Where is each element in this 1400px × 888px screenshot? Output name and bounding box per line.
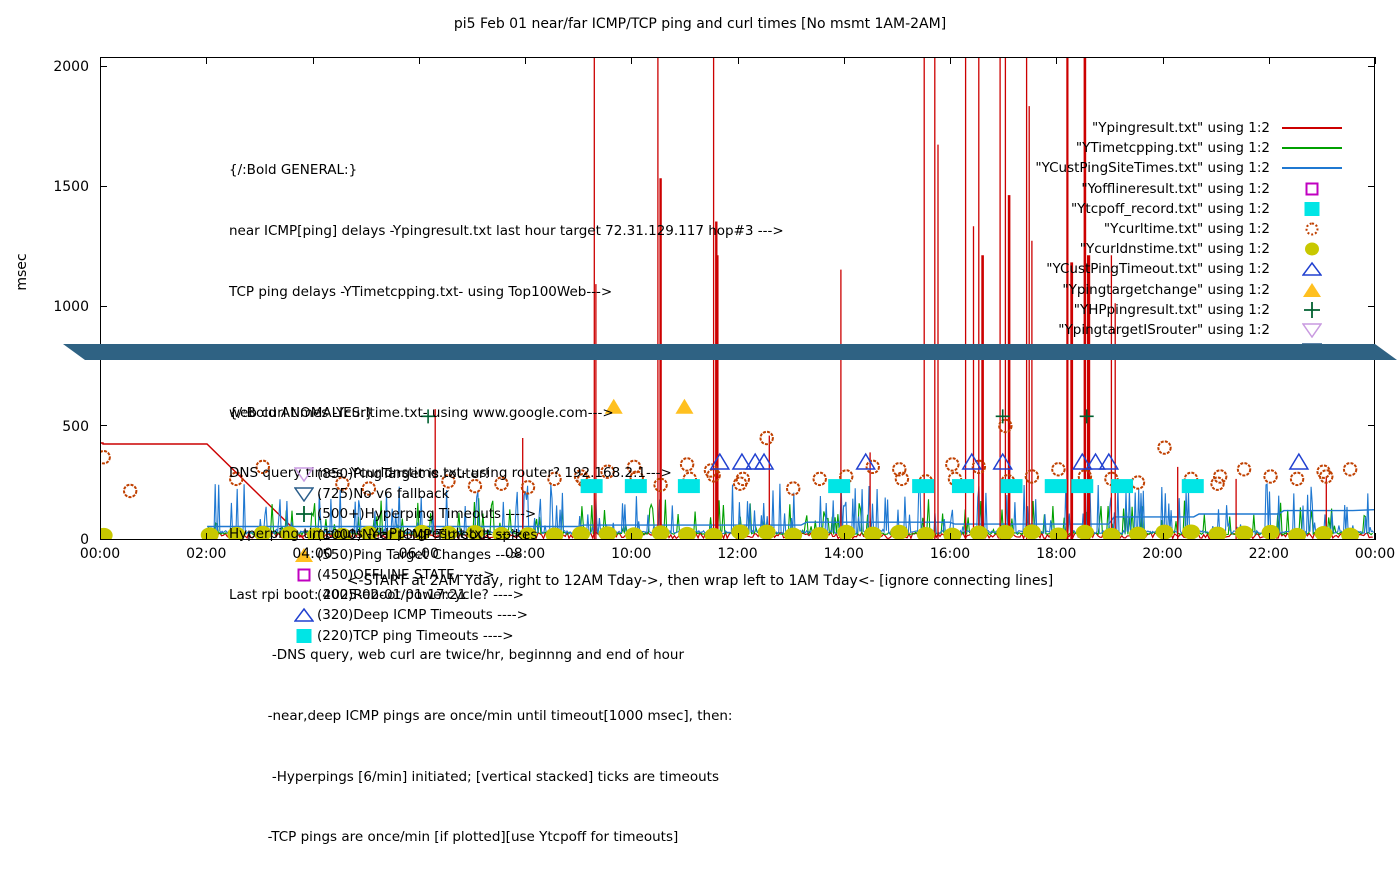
legend-item[interactable]: "Ypingresult.txt" using 1:2 [996,118,1346,138]
curl-time-marker [814,473,826,485]
dns-time-marker [1182,524,1200,539]
selection-band-overlay[interactable] [85,344,1375,360]
tcp-ping-timeout-marker [828,479,850,493]
x-tickmark [1269,57,1270,64]
legend-item[interactable]: "YCustPingTimeout.txt" using 1:2 [996,259,1346,279]
x-tickmark [1056,533,1057,540]
x-tickmark [100,533,101,540]
plot-area: {/:Bold GENERAL:} near ICMP[ping] delays… [100,57,1375,540]
curl-time-marker [1052,463,1064,475]
y-tick-1500: 1500 [29,180,89,194]
x-tickmark [313,533,314,540]
anomaly-label: (1000)Near ICMP Timeout spikes [317,525,537,545]
curl-time-marker [946,458,958,470]
legend-item[interactable]: "Ypingtargetchange" using 1:2 [996,280,1346,300]
y-axis-label: msec [14,242,30,302]
curl-time-marker [1158,441,1170,453]
curl-time-marker [124,485,136,497]
x-tick-label: 22:00 [1234,546,1304,562]
dns-time-marker [943,528,961,539]
general-line: TCP ping delays -YTimetcpping.txt- using… [229,282,784,302]
circle-filled-icon [1278,239,1346,259]
legend-item[interactable]: "YpingtargetISrouter" using 1:2 [996,320,1346,340]
dns-time-marker [811,527,829,539]
x-tick-label: 20:00 [1128,546,1198,562]
dns-time-marker [1102,528,1120,539]
plus-icon [291,504,317,524]
dns-time-marker [996,525,1014,539]
x-tickmark [206,57,207,64]
x-tickmark [631,533,632,540]
x-tickmark [1163,57,1164,64]
tcp-ping-timeout-marker [1045,479,1067,493]
line-icon [1278,118,1346,138]
chart-root: pi5 Feb 01 near/far ICMP/TCP ping and cu… [0,0,1400,600]
chart-title: pi5 Feb 01 near/far ICMP/TCP ping and cu… [0,16,1400,32]
anomalies-heading: {/:Bold ANOMALIES:} [229,403,537,423]
dns-time-marker [784,528,802,539]
tcp-ping-timeout-marker [1182,479,1204,493]
curl-time-marker [101,451,110,463]
dns-time-marker [917,527,935,539]
x-tick-label: 12:00 [703,546,773,562]
legend-label: "Ypingresult.txt" using 1:2 [1092,118,1270,138]
legend-item[interactable]: "Yofflineresult.txt" using 1:2 [996,179,1346,199]
x-tickmark [1269,533,1270,540]
legend-item[interactable]: "Ycurldnstime.txt" using 1:2 [996,239,1346,259]
triangle-down-open-icon [1278,320,1346,340]
x-tick-label: 14:00 [809,546,879,562]
curl-time-marker [1238,463,1250,475]
legend-item[interactable]: "YTimetcpping.txt" using 1:2 [996,138,1346,158]
circle-open-icon [1278,219,1346,239]
x-tickmark [950,57,951,64]
x-tickmark [1056,57,1057,64]
curl-time-marker [1214,470,1226,482]
anomaly-label: (850)PingTarget is router! [317,464,490,484]
anomaly-row: (1000)Near ICMP Timeout spikes [229,525,537,545]
square-filled-icon [1278,199,1346,219]
curl-time-marker [1291,473,1303,485]
triangle-up-open-icon [291,605,317,625]
general-heading: {/:Bold GENERAL:} [229,160,784,180]
x-tick-label: 16:00 [915,546,985,562]
y-tick-1000: 1000 [29,300,89,314]
curl-time-marker [1132,476,1144,488]
legend-label: "Ypingtargetchange" using 1:2 [1062,280,1270,300]
legend-label: "Ytcpoff_record.txt" using 1:2 [1071,199,1270,219]
x-tickmark [844,533,845,540]
y-tick-0: 0 [29,533,89,547]
legend-label: "Ycurltime.txt" using 1:2 [1104,219,1270,239]
curl-time-marker [1264,470,1276,482]
x-tick-label: 00:00 [65,546,135,562]
hyperping-timeout-marker [1080,409,1094,423]
legend-item[interactable]: "Ytcpoff_record.txt" using 1:2 [996,199,1346,219]
square-filled-icon [291,626,317,646]
x-tickmark [206,533,207,540]
dns-time-marker [101,528,113,539]
dns-time-marker [1155,525,1173,539]
anomaly-label: (725)No v6 fallback [317,484,449,504]
anomaly-row: (725)No v6 fallback [229,484,537,504]
x-tickmark [525,533,526,540]
triangle-up-filled-icon [1278,280,1346,300]
tcp-ping-timeout-marker [1111,479,1133,493]
x-tickmark [631,57,632,64]
deep-icmp-timeout-marker [1290,454,1308,469]
y-tick-500: 500 [29,420,89,434]
general-line: -near,deep ICMP pings are once/min until… [229,706,784,726]
curl-time-marker [787,482,799,494]
anomaly-label: (220)TCP ping Timeouts ----> [317,626,514,646]
tcp-ping-timeout-marker [1001,479,1023,493]
curl-time-marker [1344,463,1356,475]
anomaly-row: (500+)Hyperping Timeouts ----> [229,504,537,524]
x-tickmark [313,57,314,64]
square-open-icon [1278,179,1346,199]
general-line: -Hyperpings [6/min] initiated; [vertical… [229,767,784,787]
tcp-ping-timeout-marker [1071,479,1093,493]
triangle-down-open-icon [291,464,317,484]
x-tickmark [950,533,951,540]
x-tick-label: 18:00 [1021,546,1091,562]
x-tickmark [525,57,526,64]
x-tick-label: 10:00 [596,546,666,562]
legend-label: "YpingtargetISrouter" using 1:2 [1058,320,1270,340]
x-tickmark [1375,533,1376,540]
anomalies-annotations: {/:Bold ANOMALIES:} (850)PingTarget is r… [229,363,537,686]
x-tick-label: 02:00 [171,546,241,562]
legend-label: "YTimetcpping.txt" using 1:2 [1076,138,1270,158]
legend-item[interactable]: "YCustPingSiteTimes.txt" using 1:2 [996,158,1346,178]
x-tickmark [100,57,101,64]
x-tickmark [738,533,739,540]
anomaly-row: (220)TCP ping Timeouts ----> [229,626,537,646]
legend-label: "Yofflineresult.txt" using 1:2 [1081,179,1270,199]
y-tick-2000: 2000 [29,60,89,74]
general-line: near ICMP[ping] delays -Ypingresult.txt … [229,221,784,241]
line-icon [1278,138,1346,158]
x-tick-label: 04:00 [278,546,348,562]
x-tick-label: 00:00 [1340,546,1400,562]
triangle-down-open-icon [291,484,317,504]
x-tickmark [1375,57,1376,64]
legend-label: "YCustPingTimeout.txt" using 1:2 [1046,259,1270,279]
legend: "Ypingresult.txt" using 1:2"YTimetcpping… [996,118,1346,360]
legend-item[interactable]: "Ycurltime.txt" using 1:2 [996,219,1346,239]
x-tickmark [738,57,739,64]
dns-time-marker [1288,528,1306,539]
x-tickmark [844,57,845,64]
x-tick-label: 06:00 [384,546,454,562]
triangle-up-open-icon [1278,259,1346,279]
legend-label: "YCustPingSiteTimes.txt" using 1:2 [1035,158,1270,178]
line-icon [1278,158,1346,178]
general-line: -TCP pings are once/min [if plotted][use… [229,827,784,847]
x-tickmark [419,57,420,64]
dns-time-marker [1023,524,1041,539]
tcp-ping-timeout-marker [912,479,934,493]
plus-icon [1278,300,1346,320]
legend-label: "Ycurldnstime.txt" using 1:2 [1080,239,1270,259]
dns-time-marker [1209,527,1227,539]
anomaly-row: (850)PingTarget is router! [229,464,537,484]
x-tickmark [1163,533,1164,540]
anomaly-row: (320)Deep ICMP Timeouts ----> [229,605,537,625]
curl-time-marker [1211,477,1223,489]
dns-time-marker [890,525,908,539]
anomaly-label: (500+)Hyperping Timeouts ----> [317,504,536,524]
tcp-ping-timeout-marker [952,479,974,493]
x-axis-label: <-START at 2AM Yday, right to 12AM Tday-… [0,573,1400,589]
x-tick-label: 08:00 [490,546,560,562]
legend-label: "YHPpingresult.txt" using 1:2 [1074,300,1270,320]
anomaly-label: (320)Deep ICMP Timeouts ----> [317,605,528,625]
legend-item[interactable]: "YHPpingresult.txt" using 1:2 [996,300,1346,320]
x-tickmark [419,533,420,540]
